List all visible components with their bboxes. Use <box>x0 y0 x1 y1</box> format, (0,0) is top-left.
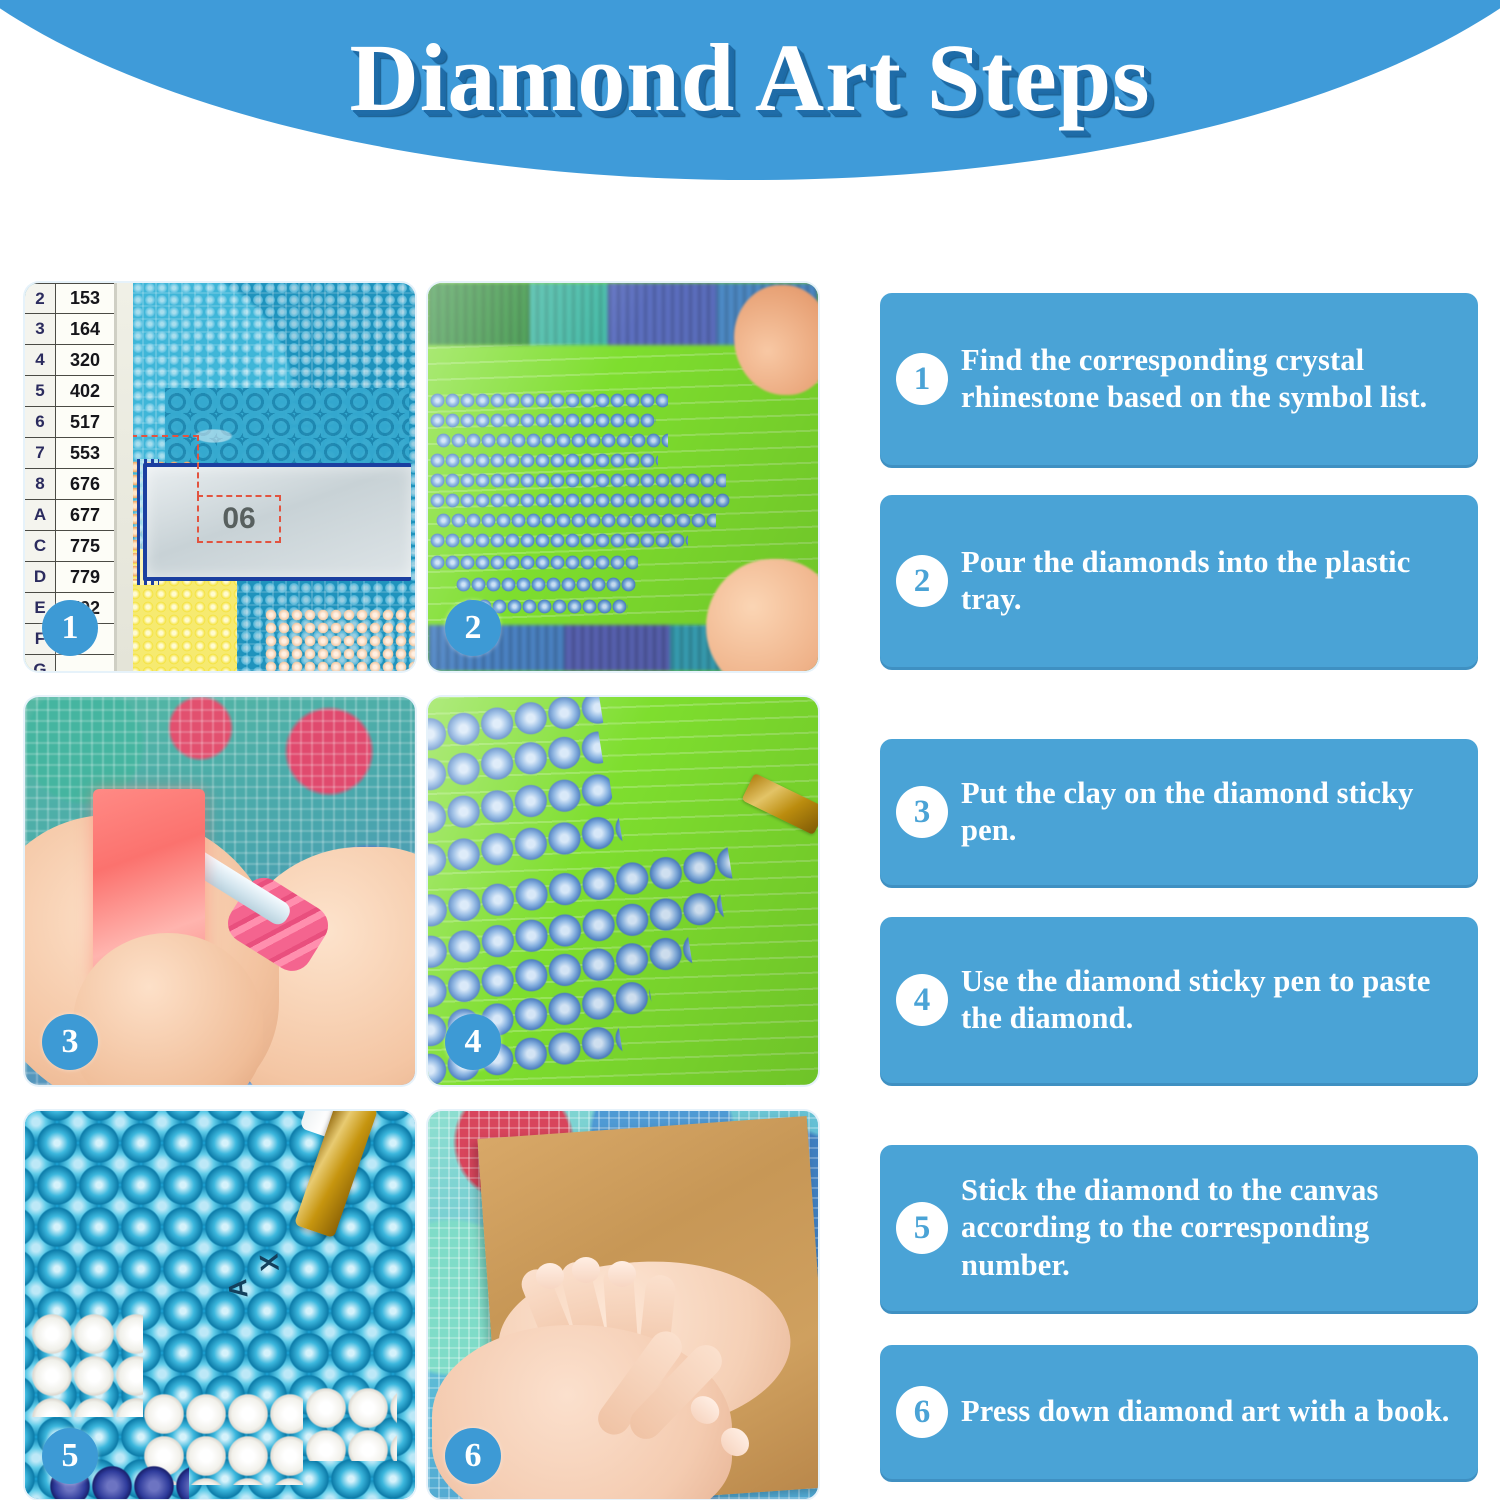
canvas-symbol-x: X <box>253 1253 285 1273</box>
symbol-cell: G <box>25 655 56 671</box>
symbol-cell: D <box>25 562 56 592</box>
step-number-4: 4 <box>896 974 948 1026</box>
fingernail <box>536 1263 564 1289</box>
photo-badge-4: 4 <box>445 1014 501 1070</box>
step-number-5: 5 <box>896 1202 948 1254</box>
table-row: G <box>25 655 114 671</box>
number-cell: 517 <box>56 407 114 437</box>
number-cell: 402 <box>56 376 114 406</box>
symbol-cell: 4 <box>25 345 56 375</box>
peach-diamond-area <box>265 609 415 671</box>
fingernail <box>608 1261 636 1287</box>
steps-column: 1 Find the corresponding crystal rhinest… <box>880 283 1478 1478</box>
connector-line-vertical <box>197 435 199 497</box>
step-text-5: Stick the diamond to the canvas accordin… <box>961 1172 1460 1285</box>
bag-number-label: 06 <box>197 495 281 543</box>
step-card-1[interactable]: 1 Find the corresponding crystal rhinest… <box>880 293 1478 465</box>
step-text-4: Use the diamond sticky pen to paste the … <box>961 963 1460 1038</box>
number-cell: 677 <box>56 500 114 530</box>
step-text-3: Put the clay on the diamond sticky pen. <box>961 775 1460 850</box>
symbol-cell: C <box>25 531 56 561</box>
photo-badge-3: 3 <box>42 1014 98 1070</box>
table-row: A 677 <box>25 500 114 531</box>
step-number-3: 3 <box>896 786 948 838</box>
photo-badge-6: 6 <box>445 1428 501 1484</box>
number-cell: 164 <box>56 314 114 344</box>
photo-badge-1: 1 <box>42 600 98 656</box>
canvas-symbol-a: A <box>222 1278 255 1299</box>
table-row-highlighted: 6 517 <box>25 407 114 438</box>
infographic-page: Diamond Art Steps 06 2 153 <box>0 0 1500 1500</box>
table-row: 4 320 <box>25 345 114 376</box>
number-cell: 153 <box>56 284 114 313</box>
step-card-4[interactable]: 4 Use the diamond sticky pen to paste th… <box>880 917 1478 1083</box>
symbol-cell: 7 <box>25 438 56 468</box>
table-row: 5 402 <box>25 376 114 407</box>
white-diamond-cluster <box>31 1313 143 1417</box>
photo-step-4[interactable]: 4 <box>428 697 818 1085</box>
page-title: Diamond Art Steps <box>0 22 1500 133</box>
fingernail <box>572 1257 600 1283</box>
photo-step-5[interactable]: X A 5 <box>25 1111 415 1499</box>
step-number-6: 6 <box>896 1386 948 1438</box>
number-cell: 553 <box>56 438 114 468</box>
step-card-5[interactable]: 5 Stick the diamond to the canvas accord… <box>880 1145 1478 1311</box>
steps-grid: 06 2 153 3 164 4 320 5 402 <box>25 283 1478 1478</box>
step-number-1: 1 <box>896 353 948 405</box>
photo-badge-2: 2 <box>445 600 501 656</box>
symbol-cell: 2 <box>25 284 56 313</box>
step-text-2: Pour the diamonds into the plastic tray. <box>961 544 1460 619</box>
symbol-cell: 8 <box>25 469 56 499</box>
table-row: 2 153 <box>25 283 114 314</box>
number-cell: 676 <box>56 469 114 499</box>
step-card-2[interactable]: 2 Pour the diamonds into the plastic tra… <box>880 495 1478 667</box>
step-text-6: Press down diamond art with a book. <box>961 1393 1449 1431</box>
table-row: D 779 <box>25 562 114 593</box>
symbol-cell: 6 <box>25 407 56 437</box>
table-row: 3 164 <box>25 314 114 345</box>
photo-step-2[interactable]: 2 <box>428 283 818 671</box>
step-text-1: Find the corresponding crystal rhineston… <box>961 342 1460 417</box>
table-row: 7 553 <box>25 438 114 469</box>
photo-step-3[interactable]: 3 <box>25 697 415 1085</box>
symbol-cell: 5 <box>25 376 56 406</box>
table-row: C 775 <box>25 531 114 562</box>
step-number-2: 2 <box>896 555 948 607</box>
table-row: 8 676 <box>25 469 114 500</box>
step-card-3[interactable]: 3 Put the clay on the diamond sticky pen… <box>880 739 1478 885</box>
white-diamond-cluster <box>305 1387 397 1461</box>
number-cell <box>56 655 114 671</box>
header-banner: Diamond Art Steps <box>0 0 1500 185</box>
photo-step-6[interactable]: 6 <box>428 1111 818 1499</box>
photo-badge-5: 5 <box>42 1428 98 1484</box>
photo-step-1[interactable]: 06 2 153 3 164 4 320 5 402 <box>25 283 415 671</box>
chart-margin-strip <box>117 283 133 671</box>
number-cell: 320 <box>56 345 114 375</box>
symbol-cell: A <box>25 500 56 530</box>
symbol-cell: 3 <box>25 314 56 344</box>
step-card-6[interactable]: 6 Press down diamond art with a book. <box>880 1345 1478 1479</box>
number-cell: 779 <box>56 562 114 592</box>
number-cell: 775 <box>56 531 114 561</box>
